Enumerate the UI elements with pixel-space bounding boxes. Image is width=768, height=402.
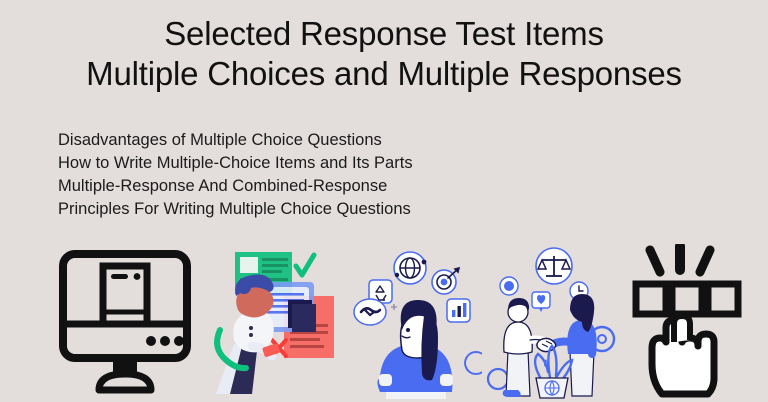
page-title: Selected Response Test Items Multiple Ch…	[0, 14, 768, 94]
list-item: Disadvantages of Multiple Choice Questio…	[58, 129, 618, 152]
list-item: Principles For Writing Multiple Choice Q…	[58, 198, 618, 221]
list-item: How to Write Multiple-Choice Items and I…	[58, 152, 618, 175]
slide-canvas: Selected Response Test Items Multiple Ch…	[0, 0, 768, 402]
bullet-list: Disadvantages of Multiple Choice Questio…	[58, 129, 618, 221]
handshake-agreement-illustration	[484, 244, 626, 399]
illustration-row	[0, 244, 768, 402]
woman-with-skill-icons-illustration	[352, 244, 482, 399]
monitor-device-icon	[55, 244, 195, 396]
hand-choosing-option-icon	[632, 244, 752, 399]
title-line-2: Multiple Choices and Multiple Responses	[0, 54, 768, 94]
title-line-1: Selected Response Test Items	[0, 14, 768, 54]
person-reviewing-documents-illustration	[208, 244, 343, 399]
list-item: Multiple-Response And Combined-Response	[58, 175, 618, 198]
